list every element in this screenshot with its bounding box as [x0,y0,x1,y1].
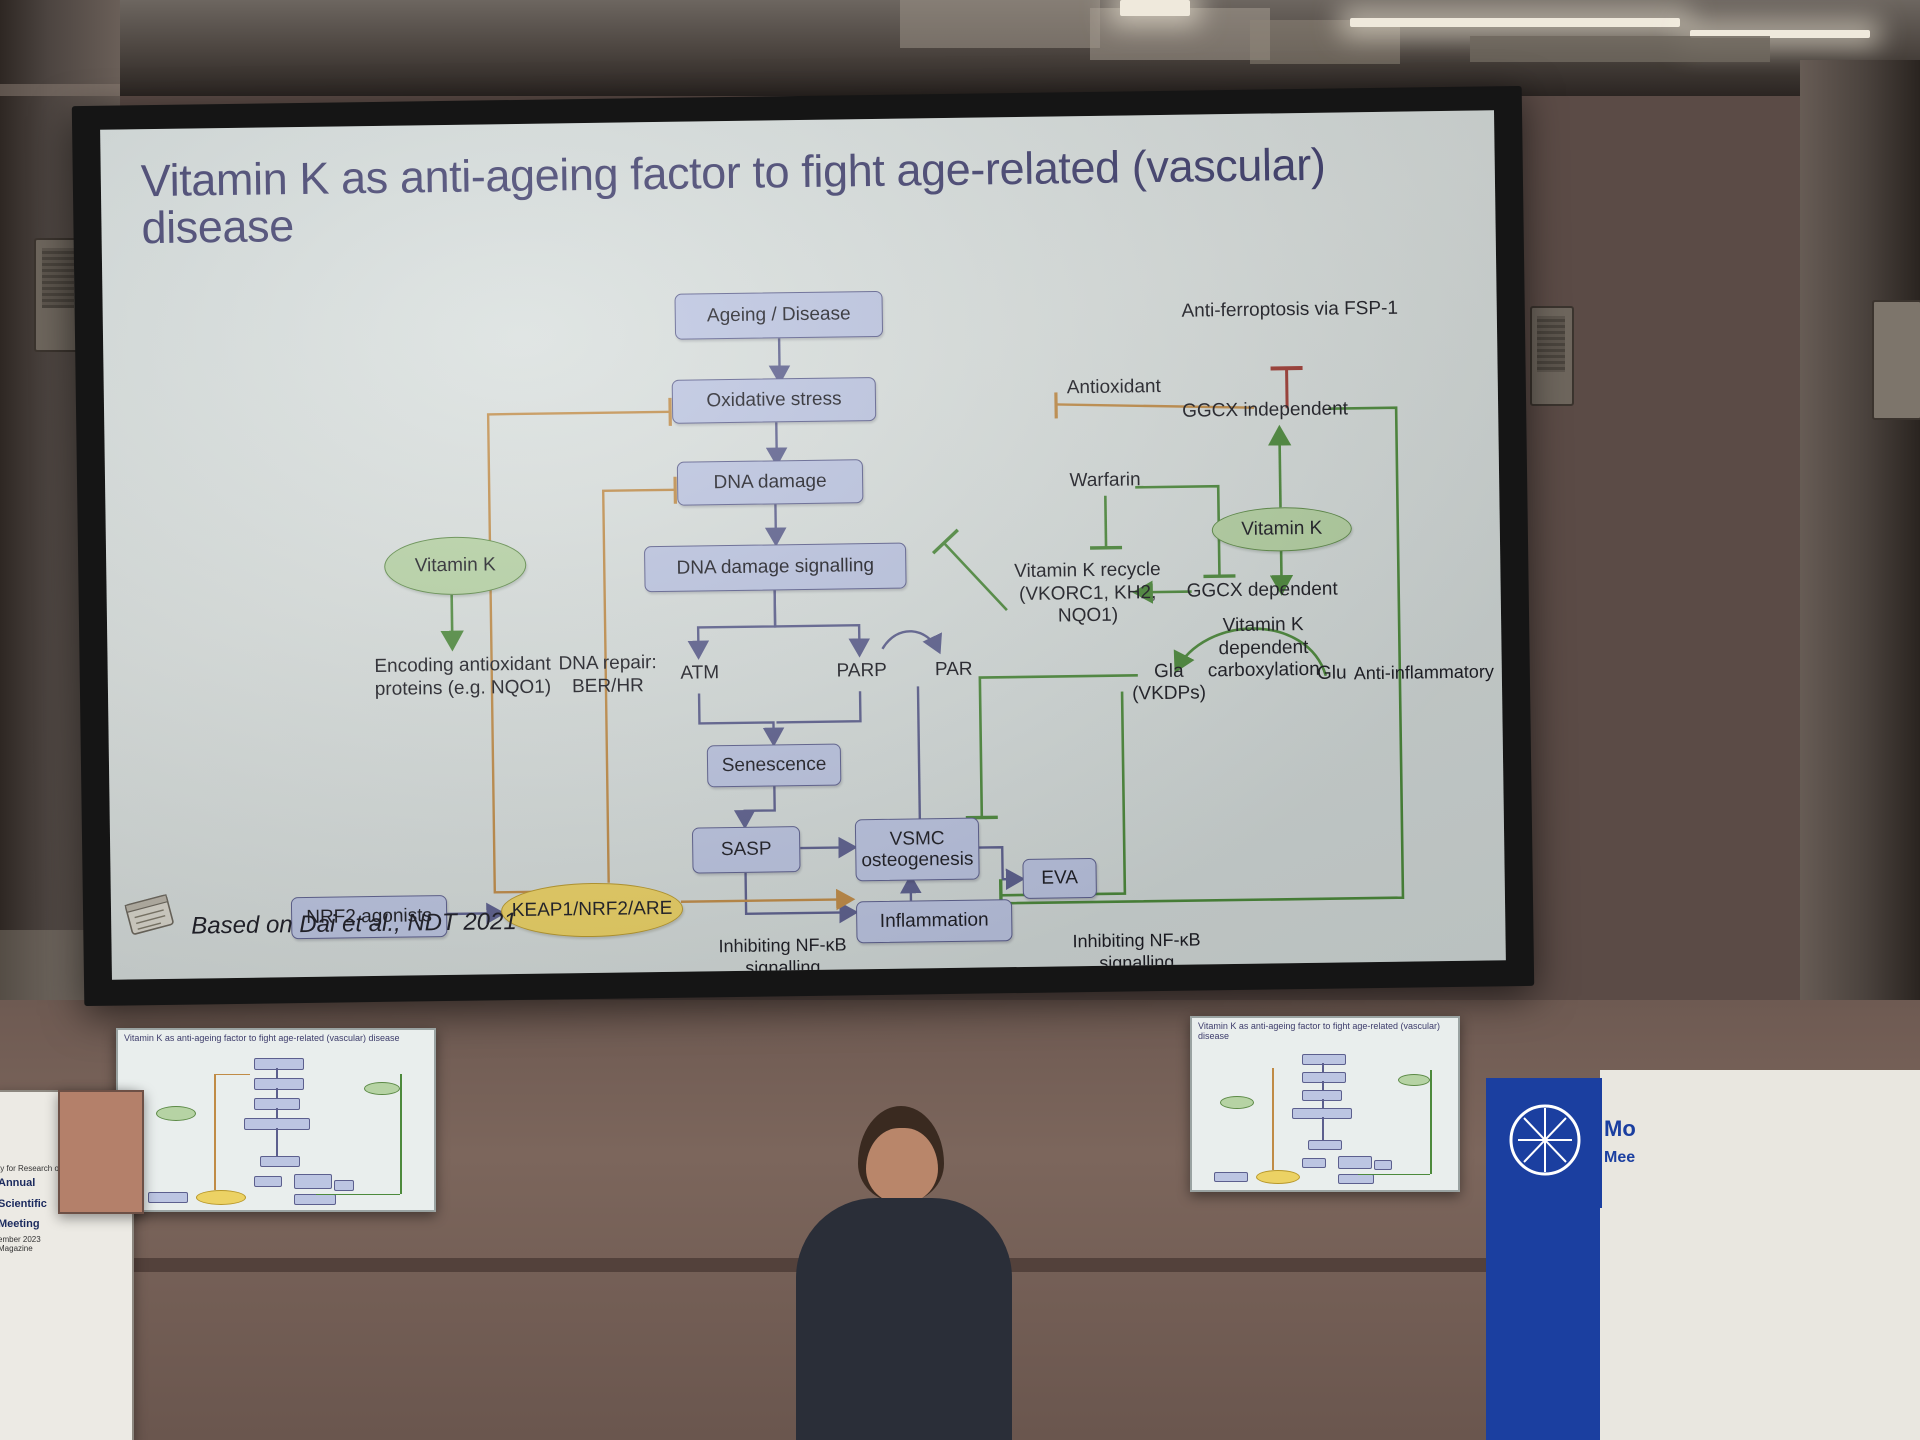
annotation-text: Antioxidant [1067,376,1161,399]
node-label: Vitamin K [415,555,496,577]
annotation-text: Anti-ferroptosis via FSP-1 [1181,298,1398,322]
node-label: DNA damage [713,471,826,494]
annotation-line1: Encoding antioxidant [374,654,551,679]
ceiling-tile [900,0,1100,48]
person-shoulders [796,1198,1012,1440]
poster-line5: ember 2023 [0,1235,132,1244]
annotation-line1: Inhibiting NF-κB [1072,930,1200,953]
monitor-left-diagram [118,1044,434,1212]
banner-line2: Mee [1600,1145,1920,1171]
node-eva[interactable]: EVA [1022,858,1097,899]
node-label-line1: VSMC [890,828,945,850]
monitor-right[interactable]: Vitamin K as anti-ageing factor to fight… [1190,1016,1460,1192]
node-warfarin[interactable]: Warfarin [1053,465,1157,496]
node-vitamin-k-recycle[interactable]: Vitamin K recycle (VKORC1, KH2, NQO1) [1006,555,1169,633]
node-label: Vitamin K [1241,518,1322,540]
person-face [866,1128,938,1204]
right-wall [1800,60,1920,1120]
monitor-right-title: Vitamin K as anti-ageing factor to fight… [1192,1018,1458,1042]
wall-trim [0,84,120,96]
node-label: GGCX independent [1182,399,1348,423]
node-label: Ageing / Disease [707,304,851,327]
recycle-line2: (VKORC1, KH2, [1019,582,1157,606]
poster-line6: Magazine [0,1244,132,1253]
label-antioxidant: Antioxidant [1044,373,1184,403]
node-dna-damage[interactable]: DNA damage [677,459,864,506]
gla-line1: Gla [1154,660,1184,683]
annotation-line1: Vitamin K [1223,614,1304,638]
wall-speaker [1530,306,1574,406]
node-senescence[interactable]: Senescence [707,743,842,787]
recycle-line1: Vitamin K recycle [1014,559,1161,583]
node-parp[interactable]: PARP [816,655,908,688]
slide-content: Vitamin K as anti-ageing factor to fight… [100,110,1506,979]
lecture-room-photo: Vitamin K as anti-ageing factor to fight… [0,0,1920,1440]
annotation-text: Anti-inflammatory [1354,661,1494,683]
label-inhibiting-nfkb-left: Inhibiting NF-κB signalling [687,931,878,980]
poster-line4: Meeting [0,1214,132,1235]
annotation-line2: proteins (e.g. NQO1) [375,677,552,702]
label-inhibiting-nfkb-right: Inhibiting NF-κB signalling [1041,926,1232,979]
node-label: DNA damage signalling [676,555,874,579]
slide-credit: Based on Dai et al., NDT 2021 [191,908,517,941]
node-ggcx-dependent[interactable]: GGCX dependent [1186,574,1362,606]
monitor-left-title: Vitamin K as anti-ageing factor to fight… [118,1030,434,1044]
node-label-line2: osteogenesis [861,849,973,872]
node-sasp[interactable]: SASP [692,826,801,874]
poster-photo [58,1090,144,1214]
label-anti-ferroptosis: Anti-ferroptosis via FSP-1 [1163,293,1417,327]
annotation-line1: Inhibiting NF-κB [718,935,846,958]
node-label: EVA [1041,868,1078,890]
annotation-line1: DNA repair: [558,652,657,676]
annotation-line2: signalling [745,957,820,980]
node-vsmc-osteogenesis[interactable]: VSMC osteogenesis [855,818,980,882]
node-inflammation[interactable]: Inflammation [856,899,1013,943]
node-label: Oxidative stress [706,389,841,412]
annotation-line2: dependent [1218,637,1308,661]
monitor-right-diagram [1192,1042,1458,1192]
annotation-line2: signalling [1099,952,1174,975]
annotation-line2: BER/HR [572,675,644,699]
label-vitamin-k-dependent-carboxylation: Vitamin K dependent carboxylation [1189,611,1338,687]
ceiling-light [1120,0,1190,16]
node-oxidative-stress[interactable]: Oxidative stress [672,377,877,424]
pathway-diagram: Ageing / Disease Oxidative stress DNA da… [100,110,1506,979]
node-label: PAR [935,659,973,681]
notepad-icon [121,889,184,946]
label-anti-inflammatory: Anti-inflammatory [1354,656,1506,688]
ceiling-light-strip [1350,18,1680,27]
label-dna-repair: DNA repair: BER/HR [527,646,688,706]
node-par[interactable]: PAR [918,653,990,686]
node-label: Inflammation [880,910,989,933]
annotation-line3: carboxylation [1208,659,1320,683]
banner-line1: Mo [1600,1070,1920,1145]
node-ageing-disease[interactable]: Ageing / Disease [674,291,883,340]
monitor-left[interactable]: Vitamin K as anti-ageing factor to fight… [116,1028,436,1212]
node-label: KEAP1/NRF2/ARE [512,898,673,922]
node-dna-damage-signalling[interactable]: DNA damage signalling [644,543,907,593]
node-label: SASP [721,839,772,861]
banner-emblem-icon [1500,1090,1590,1195]
node-label: PARP [836,660,887,682]
node-label: Warfarin [1069,470,1140,492]
ceiling-tile [1470,36,1770,62]
recycle-line3: NQO1) [1058,605,1118,628]
node-label: Senescence [722,754,827,777]
node-label: GGCX dependent [1187,579,1338,602]
node-ggcx-independent[interactable]: GGCX independent [1182,394,1370,427]
banner-right: Mo Mee [1600,1070,1920,1440]
wall-speaker [1872,300,1920,420]
projection-screen: Vitamin K as anti-ageing factor to fight… [72,86,1534,1006]
